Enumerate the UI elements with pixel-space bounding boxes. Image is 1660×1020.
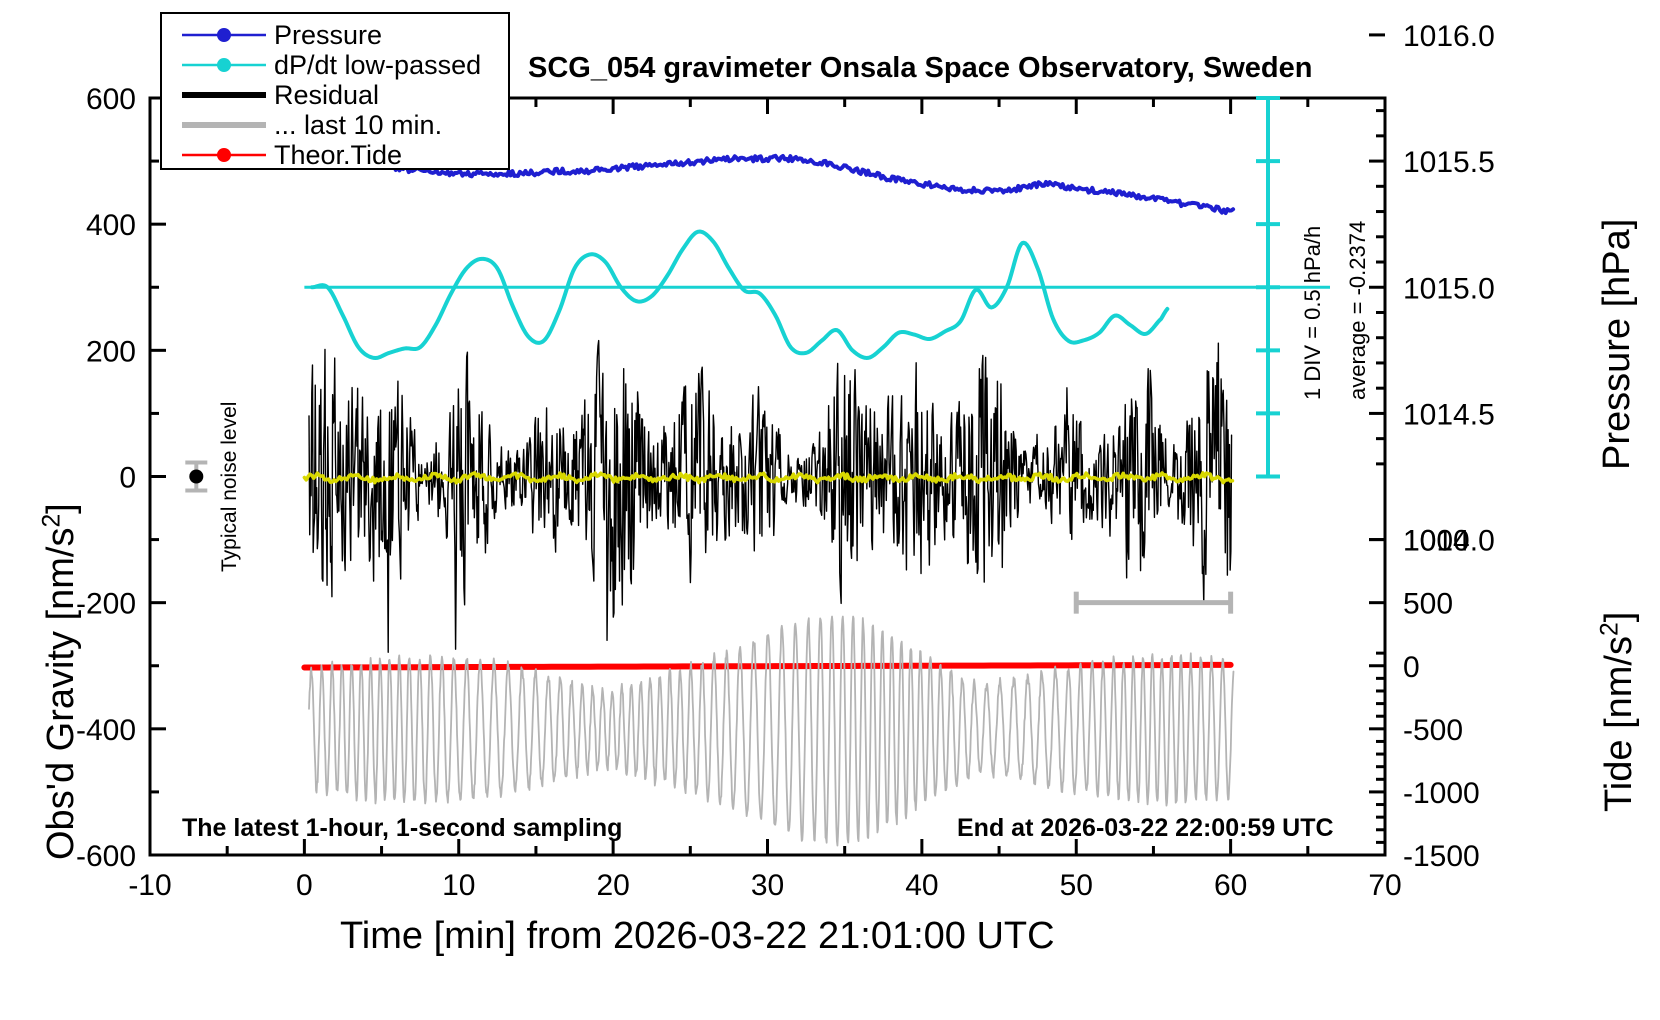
pressure-axis-tick-label: 1015.5: [1403, 146, 1495, 179]
left-axis-tick-label: -200: [76, 588, 136, 621]
tide-axis-tick-label: 1000: [1403, 525, 1470, 558]
bottom-axis-tick-label: 60: [1214, 869, 1247, 902]
pressure-axis-tick-label: 1015.0: [1403, 272, 1495, 305]
dpdt-scale-note-text: 1 DIV = 0.5 hPa/h: [1300, 226, 1325, 400]
legend-item-pressure[interactable]: Pressure: [162, 20, 508, 50]
left-axis-tick-label: 0: [119, 462, 136, 495]
left-axis-tick-label: -600: [76, 840, 136, 873]
legend-label-residual: Residual: [274, 80, 379, 110]
bottom-axis-tick-label: 10: [442, 869, 475, 902]
tide-axis-tick-label: -1000: [1403, 777, 1480, 810]
tide-axis-tick-label: -500: [1403, 714, 1463, 747]
tide-axis-tick-label: -1500: [1403, 840, 1480, 873]
bottom-axis-tick-label: -10: [128, 869, 171, 902]
pressure-axis-tick-label: 1016.0: [1403, 20, 1495, 53]
footer-right-note: End at 2026-03-22 22:00:59 UTC: [957, 814, 1334, 843]
right-pressure-axis-title-text: Pressure [hPa]: [1596, 219, 1638, 470]
bottom-axis-tick-label: 20: [596, 869, 629, 902]
tide-axis-tick-label: 0: [1403, 651, 1420, 684]
legend-item-last10[interactable]: ... last 10 min.: [162, 110, 508, 140]
tide-axis-tick-label: 500: [1403, 588, 1453, 621]
left-axis-tick-label: 600: [86, 83, 136, 116]
noise-level-point: [189, 470, 203, 484]
legend: Pressure dP/dt low-passed Residual ... l…: [160, 12, 510, 170]
right-tide-axis-title-text: Tide [nm/s2]: [1598, 612, 1640, 812]
bottom-axis-tick-label: 0: [296, 869, 313, 902]
legend-swatch-dpdt: [180, 50, 268, 80]
bottom-axis-title: Time [min] from 2026-03-22 21:01:00 UTC: [340, 915, 1055, 958]
legend-swatch-pressure: [180, 20, 268, 50]
left-axis-title-text: Obs'd Gravity [nm/s2]: [40, 503, 82, 860]
legend-label-last10: ... last 10 min.: [274, 110, 442, 140]
left-axis-tick-label: 400: [86, 209, 136, 242]
bottom-axis-tick-label: 30: [751, 869, 784, 902]
legend-label-tide: Theor.Tide: [274, 140, 402, 170]
bottom-axis-tick-label: 70: [1368, 869, 1401, 902]
legend-item-dpdt[interactable]: dP/dt low-passed: [162, 50, 508, 80]
left-axis-tick-label: 200: [86, 335, 136, 368]
legend-item-tide[interactable]: Theor.Tide: [162, 140, 508, 170]
bottom-axis-tick-label: 50: [1060, 869, 1093, 902]
legend-swatch-tide: [180, 140, 268, 170]
page-title: SCG_054 gravimeter Onsala Space Observat…: [528, 52, 1312, 85]
legend-item-residual[interactable]: Residual: [162, 80, 508, 110]
bottom-axis-tick-label: 40: [905, 869, 938, 902]
noise-level-note-text: Typical noise level: [218, 402, 241, 572]
legend-label-dpdt: dP/dt low-passed: [274, 50, 481, 80]
legend-swatch-residual: [180, 80, 268, 110]
pressure-axis-tick-label: 1014.5: [1403, 398, 1495, 431]
left-axis-tick-label: -400: [76, 714, 136, 747]
legend-swatch-last10: [180, 110, 268, 140]
footer-left-note: The latest 1-hour, 1-second sampling: [182, 814, 622, 843]
dpdt-average-note-text: average = -0.2374: [1345, 221, 1370, 400]
legend-label-pressure: Pressure: [274, 20, 382, 50]
